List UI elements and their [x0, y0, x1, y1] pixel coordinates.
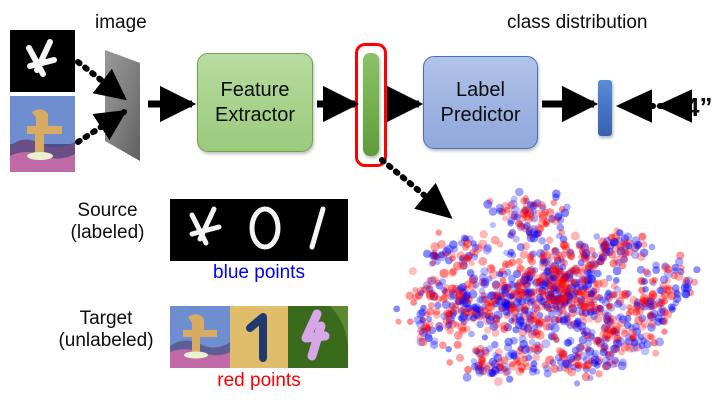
target-label-line1: Target — [36, 308, 176, 330]
source-label-line2: (labeled) — [45, 222, 170, 244]
input-image-plane — [95, 45, 165, 165]
source-points-caption: blue points — [170, 262, 348, 284]
feature-vector-bar[interactable] — [363, 53, 379, 156]
tsne-scatter-plot — [372, 180, 718, 411]
label-predictor-block[interactable]: Label Predictor — [423, 56, 538, 149]
source-label: Source (labeled) — [45, 200, 170, 244]
label-predictor-line2: Predictor — [440, 103, 520, 128]
predicted-class-label: “4” — [672, 92, 712, 123]
class-distribution-label: class distribution — [507, 12, 647, 34]
target-points-caption: red points — [170, 370, 348, 392]
target-sample-thumb — [10, 96, 75, 172]
feature-extractor-line2: Extractor — [215, 103, 295, 128]
target-label-line2: (unlabeled) — [36, 330, 176, 352]
class-distribution-bar[interactable] — [598, 80, 612, 136]
label-predictor-line1: Label — [456, 78, 505, 103]
feature-extractor-block[interactable]: Feature Extractor — [197, 53, 313, 152]
target-sample-strip — [170, 306, 348, 368]
target-label: Target (unlabeled) — [36, 308, 176, 352]
source-sample-thumb — [10, 30, 75, 92]
source-sample-strip — [170, 199, 348, 261]
source-label-line1: Source — [45, 200, 170, 222]
feature-extractor-line1: Feature — [221, 78, 290, 103]
image-label: image — [95, 12, 147, 34]
